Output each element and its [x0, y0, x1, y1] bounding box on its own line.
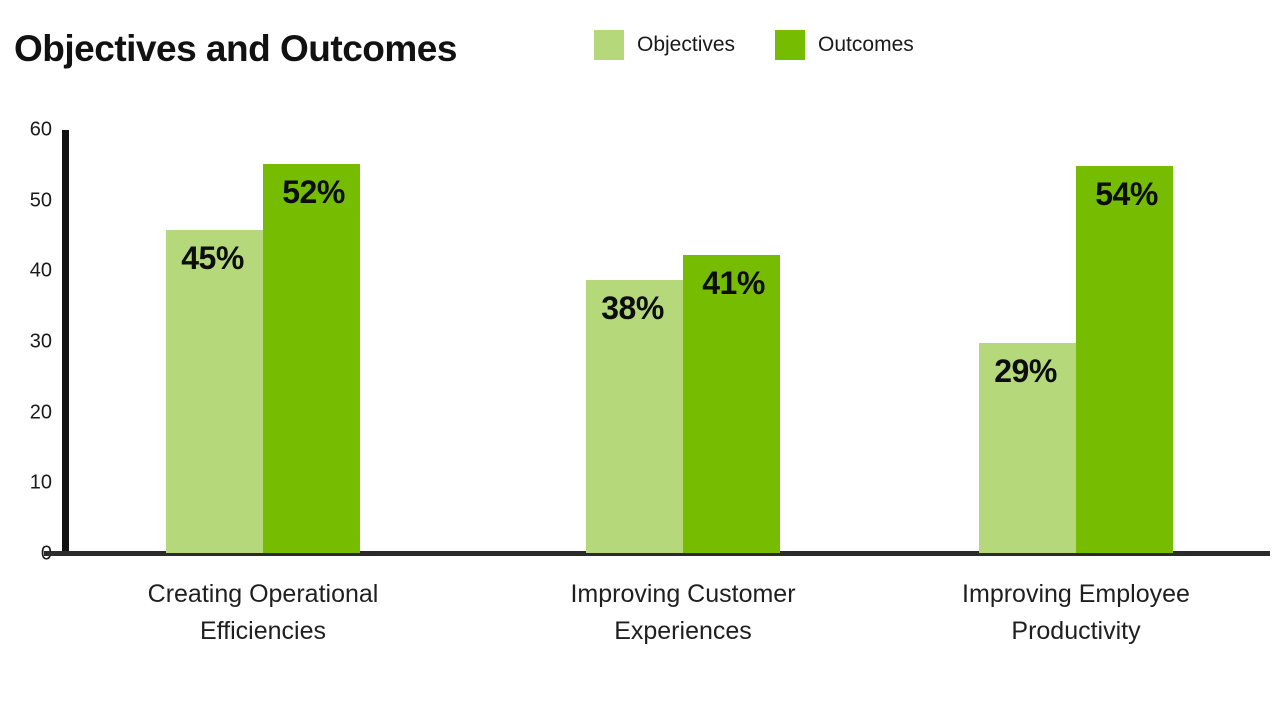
bar-outcomes-0[interactable]: 52%	[263, 164, 360, 553]
plot-area: 60 50 40 30 20 10 0 45% 52% 38	[0, 0, 1280, 720]
bar-label-outcomes-1: 41%	[685, 265, 782, 302]
bar-group-improving-customer-experiences: 38% 41%	[586, 129, 780, 553]
x-axis-label-1-line-1: Improving Customer	[513, 576, 853, 613]
bar-group-creating-operational-efficiencies: 45% 52%	[166, 129, 360, 553]
bar-outcomes-1[interactable]: 41%	[683, 255, 780, 553]
bar-label-objectives-0: 45%	[164, 240, 261, 277]
bar-outcomes-2[interactable]: 54%	[1076, 166, 1173, 553]
bar-label-objectives-2: 29%	[977, 353, 1074, 390]
bar-chart: Objectives and Outcomes Objectives Outco…	[0, 0, 1280, 720]
x-axis-label-2-line-1: Improving Employee	[906, 576, 1246, 613]
x-axis-label-2-line-2: Productivity	[906, 613, 1246, 650]
x-axis-label-0-line-1: Creating Operational	[93, 576, 433, 613]
x-axis-label-1: Improving Customer Experiences	[513, 576, 853, 650]
x-axis-label-0: Creating Operational Efficiencies	[93, 576, 433, 650]
bar-label-objectives-1: 38%	[584, 290, 681, 327]
bar-group-improving-employee-productivity: 29% 54%	[979, 129, 1173, 553]
bar-objectives-0[interactable]: 45%	[166, 230, 263, 553]
bar-objectives-1[interactable]: 38%	[586, 280, 683, 553]
x-axis-label-2: Improving Employee Productivity	[906, 576, 1246, 650]
bar-label-outcomes-0: 52%	[265, 174, 362, 211]
x-axis-label-0-line-2: Efficiencies	[93, 613, 433, 650]
x-axis-label-1-line-2: Experiences	[513, 613, 853, 650]
bar-label-outcomes-2: 54%	[1078, 176, 1175, 213]
bar-objectives-2[interactable]: 29%	[979, 343, 1076, 553]
